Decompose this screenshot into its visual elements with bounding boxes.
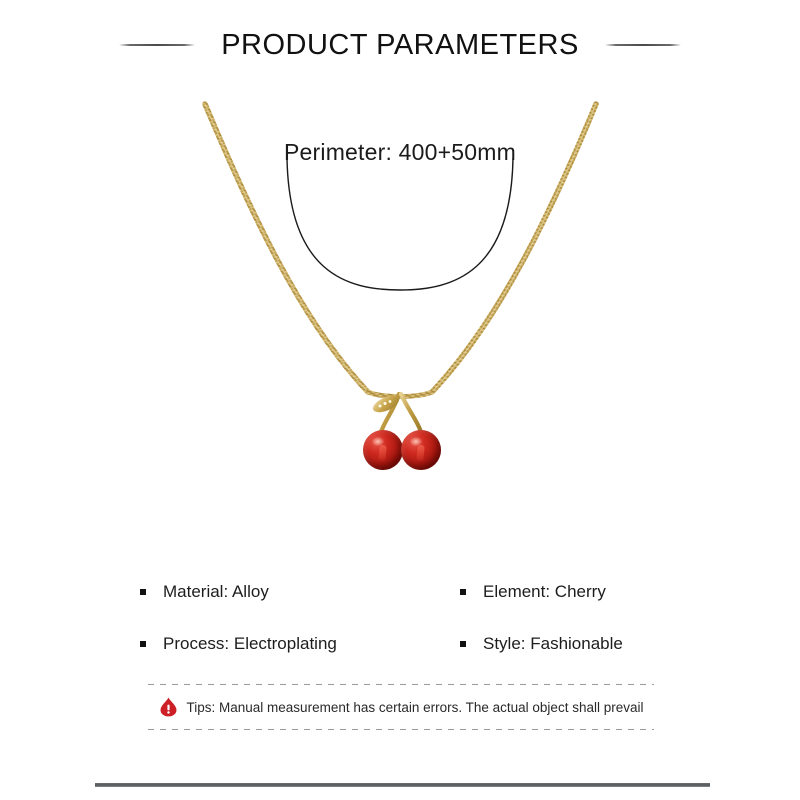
spec-list: Material: Alloy Element: Cherry Process:…: [140, 582, 680, 654]
spec-label-style: Style: Fashionable: [483, 634, 623, 654]
title-rule-right: [605, 44, 681, 46]
page-title: PRODUCT PARAMETERS: [221, 31, 579, 60]
bullet-square-icon: [460, 589, 466, 595]
cherry-glint-left: [372, 437, 384, 446]
spec-item-style: Style: Fashionable: [460, 634, 680, 654]
product-image: Perimeter: 400+50mm: [0, 90, 800, 570]
spec-item-process: Process: Electroplating: [140, 634, 460, 654]
cherry-bead-left: [363, 430, 403, 470]
page-header: PRODUCT PARAMETERS: [0, 24, 800, 66]
bullet-square-icon: [460, 641, 466, 647]
tips-block: Tips: Manual measurement has certain err…: [148, 684, 654, 730]
spec-label-process: Process: Electroplating: [163, 634, 337, 654]
spec-label-element: Element: Cherry: [483, 582, 606, 602]
tips-row: Tips: Manual measurement has certain err…: [148, 685, 654, 729]
bullet-square-icon: [140, 641, 146, 647]
cherry-bead-right: [401, 430, 441, 470]
spec-label-material: Material: Alloy: [163, 582, 269, 602]
tips-divider-bottom: [148, 729, 654, 730]
warning-icon: [159, 697, 178, 717]
spec-item-material: Material: Alloy: [140, 582, 460, 602]
cherry-glint-right: [410, 437, 422, 446]
cherry-pendant: [355, 382, 451, 478]
perimeter-label: Perimeter: 400+50mm: [0, 139, 800, 166]
bullet-square-icon: [140, 589, 146, 595]
bottom-divider-bar: [95, 783, 710, 787]
cherry-highlight-band-right: [416, 445, 425, 462]
tips-text: Tips: Manual measurement has certain err…: [187, 700, 644, 715]
title-rule-left: [119, 44, 195, 46]
cherry-highlight-band-left: [378, 445, 387, 462]
spec-item-element: Element: Cherry: [460, 582, 680, 602]
